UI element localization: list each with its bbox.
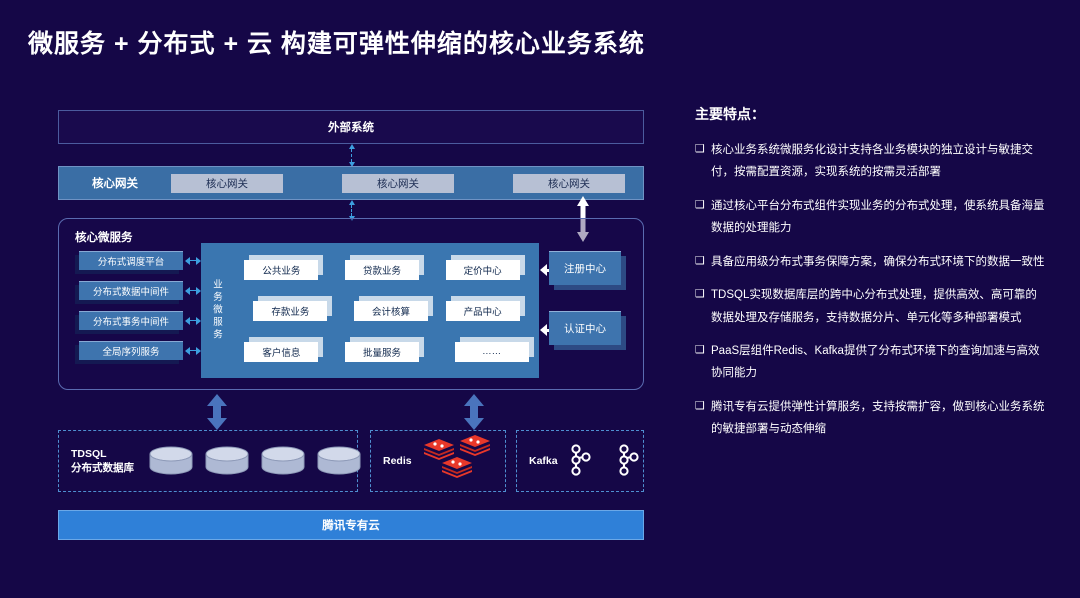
middleware-item[interactable]: 分布式数据中间件 — [79, 281, 183, 300]
tdsql-box: TDSQL 分布式数据库 — [58, 430, 358, 492]
page-title: 微服务 + 分布式 + 云 构建可弹性伸缩的核心业务系统 — [28, 24, 645, 60]
feature-text: TDSQL实现数据库层的跨中心分布式处理，提供高效、高可靠的数据处理及存储服务，… — [711, 284, 1045, 329]
business-module-card[interactable]: 批量服务 — [345, 342, 419, 362]
arrow-middleware-to-business — [185, 256, 201, 265]
feature-text: 腾讯专有云提供弹性计算服务，支持按需扩容，做到核心业务系统的敏捷部署与动态伸缩 — [711, 396, 1045, 441]
gateway-chip[interactable]: 核心网关 — [342, 174, 454, 193]
feature-text: 通过核心平台分布式组件实现业务的分布式处理，使系统具备海量数据的处理能力 — [711, 195, 1045, 240]
bullet-square-icon: ❑ — [695, 284, 711, 329]
middleware-item[interactable]: 分布式事务中间件 — [79, 311, 183, 330]
external-system-label: 外部系统 — [328, 119, 374, 135]
bullet-square-icon: ❑ — [695, 251, 711, 273]
connector-external-to-gateway — [351, 149, 352, 162]
arrow-core-to-data-left — [206, 394, 228, 430]
feature-item: ❑ TDSQL实现数据库层的跨中心分布式处理，提供高效、高可靠的数据处理及存储服… — [695, 284, 1045, 329]
middleware-item[interactable]: 分布式调度平台 — [79, 251, 183, 270]
features-title: 主要特点： — [695, 104, 1045, 124]
business-module-card[interactable]: 客户信息 — [244, 342, 318, 362]
business-module-card[interactable]: 公共业务 — [244, 260, 318, 280]
arrow-middleware-to-business — [185, 316, 201, 325]
features-panel: 主要特点： ❑ 核心业务系统微服务化设计支持各业务模块的独立设计与敏捷交付，按需… — [695, 104, 1045, 452]
database-cylinder-icon — [260, 446, 306, 476]
middleware-list: 分布式调度平台 分布式数据中间件 分布式事务中间件 全局序列服务 — [79, 251, 183, 371]
cloud-bar: 腾讯专有云 — [58, 510, 644, 540]
core-microservices-title: 核心微服务 — [75, 229, 133, 245]
feature-text: PaaS层组件Redis、Kafka提供了分布式环境下的查询加速与高效协同能力 — [711, 340, 1045, 385]
kafka-node-icon — [568, 444, 594, 478]
kafka-node-icon — [616, 444, 642, 478]
gateway-chip-group: 核心网关 核心网关 核心网关 — [171, 174, 643, 193]
bullet-square-icon: ❑ — [695, 139, 711, 184]
connector-gateway-to-core — [351, 205, 352, 216]
feature-text: 具备应用级分布式事务保障方案，确保分布式环境下的数据一致性 — [711, 251, 1045, 273]
kafka-label: Kafka — [517, 454, 558, 468]
redis-icon-group — [412, 431, 505, 491]
bullet-square-icon: ❑ — [695, 396, 711, 441]
business-module-card[interactable]: …… — [455, 342, 529, 362]
tdsql-label-line2: 分布式数据库 — [71, 461, 134, 475]
business-module-card[interactable]: 产品中心 — [446, 301, 520, 321]
auth-center-box[interactable]: 认证中心 — [549, 311, 621, 345]
business-module-grid: 公共业务 贷款业务 定价中心 存款业务 会计核算 产品中心 客户信息 批量服务 … — [231, 243, 539, 378]
business-module-card[interactable]: 存款业务 — [253, 301, 327, 321]
registry-center-box[interactable]: 注册中心 — [549, 251, 621, 285]
bullet-square-icon: ❑ — [695, 195, 711, 240]
redis-stack-icon — [440, 455, 474, 481]
feature-item: ❑ 通过核心平台分布式组件实现业务的分布式处理，使系统具备海量数据的处理能力 — [695, 195, 1045, 240]
gateway-layer-title: 核心网关 — [59, 175, 171, 191]
tdsql-label-line1: TDSQL — [71, 447, 134, 461]
arrow-middleware-to-business — [185, 346, 201, 355]
kafka-box: Kafka — [516, 430, 644, 492]
feature-item: ❑ 腾讯专有云提供弹性计算服务，支持按需扩容，做到核心业务系统的敏捷部署与动态伸… — [695, 396, 1045, 441]
core-microservices-panel: 核心微服务 分布式调度平台 分布式数据中间件 分布式事务中间件 全局序列服务 — [58, 218, 644, 390]
arrow-head-left-icon — [540, 264, 547, 276]
database-cylinder-icon — [316, 446, 362, 476]
arrow-middleware-to-business — [185, 286, 201, 295]
arrow-head-left-icon — [540, 324, 547, 336]
business-module-card[interactable]: 贷款业务 — [345, 260, 419, 280]
business-module-card[interactable]: 会计核算 — [354, 301, 428, 321]
architecture-diagram: 外部系统 核心网关 核心网关 核心网关 核心网关 核心微服务 分布式调度平台 分… — [58, 110, 644, 540]
middleware-item[interactable]: 全局序列服务 — [79, 341, 183, 360]
data-layer: TDSQL 分布式数据库 — [58, 430, 644, 492]
business-module-card[interactable]: 定价中心 — [446, 260, 520, 280]
feature-item: ❑ 核心业务系统微服务化设计支持各业务模块的独立设计与敏捷交付，按需配置资源，实… — [695, 139, 1045, 184]
arrow-core-to-data-right — [463, 394, 485, 430]
bullet-square-icon: ❑ — [695, 340, 711, 385]
feature-item: ❑ PaaS层组件Redis、Kafka提供了分布式环境下的查询加速与高效协同能… — [695, 340, 1045, 385]
kafka-icon-group — [558, 444, 642, 478]
gateway-chip[interactable]: 核心网关 — [171, 174, 283, 193]
business-microservices-vertical-label: 业务微服务 — [201, 243, 231, 378]
business-microservices-panel: 业务微服务 公共业务 贷款业务 定价中心 存款业务 会计核算 产品中心 客户信息… — [201, 243, 539, 378]
external-system-bar: 外部系统 — [58, 110, 644, 144]
feature-item: ❑ 具备应用级分布式事务保障方案，确保分布式环境下的数据一致性 — [695, 251, 1045, 273]
gateway-chip[interactable]: 核心网关 — [513, 174, 625, 193]
redis-label: Redis — [371, 454, 412, 468]
gateway-layer: 核心网关 核心网关 核心网关 核心网关 — [58, 166, 644, 200]
database-cylinder-icon — [204, 446, 250, 476]
database-cylinder-group — [134, 446, 362, 476]
tdsql-label: TDSQL 分布式数据库 — [59, 447, 134, 475]
database-cylinder-icon — [148, 446, 194, 476]
feature-text: 核心业务系统微服务化设计支持各业务模块的独立设计与敏捷交付，按需配置资源，实现系… — [711, 139, 1045, 184]
cloud-bar-label: 腾讯专有云 — [322, 517, 380, 533]
redis-box: Redis — [370, 430, 506, 492]
